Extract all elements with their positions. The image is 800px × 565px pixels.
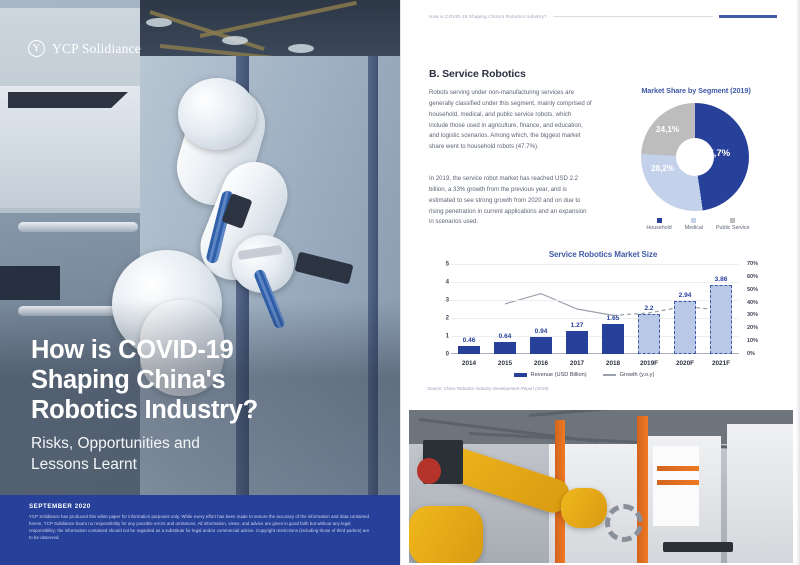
logo-mark-letter: Y <box>33 43 41 54</box>
cover-footer: SEPTEMBER 2020 YCP Solidiance has produc… <box>0 495 400 565</box>
donut-legend-label: Household <box>646 225 671 231</box>
donut-legend-item: Public Service <box>716 218 750 231</box>
photo-orange-bar-1 <box>657 466 699 471</box>
bar-2019F <box>638 314 660 354</box>
legend-line-icon <box>603 374 616 375</box>
bar-value-label: 0.46 <box>452 337 486 344</box>
y-axis-tick: 0 <box>437 351 449 358</box>
content-page: How is COVID-19 Shaping China's Robotics… <box>400 0 800 565</box>
robot-arm-shoulder <box>178 78 256 150</box>
page-edge <box>796 0 800 565</box>
cover-title-line-1: How is COVID-19 <box>31 336 233 364</box>
bar-value-label: 3.86 <box>704 276 738 283</box>
photo-dark-box <box>0 266 60 300</box>
header-rule <box>553 16 713 17</box>
x-axis-tick: 2015 <box>485 360 525 367</box>
x-axis-tick: 2021F <box>701 360 741 367</box>
bar-value-label: 2.94 <box>668 292 702 299</box>
cover-page: Y YCP Solidiance How is COVID-19 Shaping… <box>0 0 400 565</box>
photo-lamp-2 <box>222 36 248 45</box>
bar-2018 <box>602 324 624 354</box>
combo-plot-area: 0123450%10%20%30%40%50%60%70%0.4620140.6… <box>451 264 739 354</box>
y-axis-tick: 3 <box>437 297 449 304</box>
cover-subtitle-line-1: Risks, Opportunities and <box>31 435 200 452</box>
ycp-logo-icon: Y <box>28 40 45 57</box>
photo-red-cap <box>417 458 441 484</box>
donut-chart-title: Market Share by Segment (2019) <box>606 86 786 95</box>
page-header: How is COVID-19 Shaping China's Robotics… <box>429 14 777 19</box>
bar-value-label: 1.65 <box>596 315 630 322</box>
x-axis-tick: 2019F <box>629 360 669 367</box>
x-axis-tick: 2014 <box>449 360 489 367</box>
header-accent-bar <box>719 15 777 18</box>
bar-value-label: 0.94 <box>524 328 558 335</box>
donut-legend-label: Public Service <box>716 225 750 231</box>
combo-legend-item: Revenue (USD Billion) <box>514 372 587 378</box>
cover-title-line-2: Shaping China's <box>31 366 225 394</box>
x-axis-tick: 2020F <box>665 360 705 367</box>
publication-date: SEPTEMBER 2020 <box>29 503 91 510</box>
photo-robot-base-yellow <box>409 506 483 563</box>
combo-legend-label: Revenue (USD Billion) <box>531 372 587 378</box>
cover-logo: Y YCP Solidiance <box>28 40 141 57</box>
donut-label-public-service: 24,1% <box>656 125 679 134</box>
photo-orange-bar-2 <box>657 480 699 485</box>
donut-label-medical: 28,2% <box>651 164 674 173</box>
y-axis-tick: 5 <box>437 261 449 268</box>
combo-legend-item: Growth (y.o.y) <box>603 372 655 378</box>
photo-lamp-3 <box>288 44 314 53</box>
legend-swatch-icon <box>657 218 662 223</box>
combo-legend: Revenue (USD Billion)Growth (y.o.y) <box>419 372 749 378</box>
combo-chart-title: Service Robotics Market Size <box>419 250 787 259</box>
donut-legend: HouseholdMedicalPublic Service <box>610 218 786 231</box>
bar-2020F <box>674 301 696 354</box>
disclaimer-text: YCP Solidiance has produced this white p… <box>29 513 374 541</box>
x-axis-tick: 2017 <box>557 360 597 367</box>
donut-hole <box>641 103 749 211</box>
photo-robot-wrist-yellow <box>561 488 607 528</box>
section-paragraph-2: In 2019, the service robot market has re… <box>429 174 592 228</box>
chart-source-note: Source: China Robotics Industry Developm… <box>427 386 548 391</box>
growth-line-forecast <box>613 306 721 315</box>
section-title: B. Service Robotics <box>429 68 526 80</box>
photo-orange-column-2 <box>637 416 648 563</box>
market-share-chart: Market Share by Segment (2019) 47,7% 28,… <box>606 86 786 236</box>
y2-axis-tick: 50% <box>747 287 773 293</box>
bar-2015 <box>494 342 516 354</box>
legend-swatch-icon <box>691 218 696 223</box>
photo-rail-upper <box>18 222 138 232</box>
page-header-title: How is COVID-19 Shaping China's Robotics… <box>429 14 547 19</box>
market-size-chart: Service Robotics Market Size 0123450%10%… <box>419 250 787 398</box>
bar-2017 <box>566 331 588 354</box>
cover-subtitle: Risks, Opportunities and Lessons Learnt <box>31 434 258 475</box>
cover-title-block: How is COVID-19 Shaping China's Robotics… <box>31 336 258 476</box>
legend-bar-icon <box>514 373 527 378</box>
cover-title: How is COVID-19 Shaping China's Robotics… <box>31 336 258 425</box>
cover-subtitle-line-2: Lessons Learnt <box>31 456 137 473</box>
legend-swatch-icon <box>730 218 735 223</box>
y2-axis-tick: 10% <box>747 338 773 344</box>
donut-legend-item: Medical <box>685 218 703 231</box>
y2-axis-tick: 20% <box>747 325 773 331</box>
photo-panel-white <box>653 446 699 526</box>
factory-photo <box>409 410 793 563</box>
y2-axis-tick: 40% <box>747 300 773 306</box>
bar-value-label: 2.2 <box>632 305 666 312</box>
x-axis-tick: 2016 <box>521 360 561 367</box>
bar-2021F <box>710 285 732 354</box>
gridline <box>451 264 739 265</box>
bar-value-label: 0.64 <box>488 333 522 340</box>
gridline <box>451 282 739 283</box>
donut-legend-item: Household <box>646 218 671 231</box>
photo-gear <box>605 504 643 542</box>
growth-line-actual <box>505 294 613 316</box>
photo-ceiling <box>140 0 400 62</box>
photo-lamp-1 <box>146 18 172 27</box>
y2-axis-tick: 30% <box>747 312 773 318</box>
bar-2016 <box>530 337 552 354</box>
bar-2014 <box>458 346 480 354</box>
photo-dark-slot <box>8 92 128 108</box>
y2-axis-tick: 60% <box>747 274 773 280</box>
y-axis-tick: 1 <box>437 333 449 340</box>
cover-title-line-3: Robotics Industry? <box>31 396 258 424</box>
logo-text: YCP Solidiance <box>52 41 141 57</box>
photo-machine-wall-3 <box>727 424 793 563</box>
section-paragraph-1: Robots serving under non-manufacturing s… <box>429 88 592 153</box>
photo-dark-strip <box>663 542 733 552</box>
donut-label-household: 47,7% <box>703 148 730 159</box>
y-axis-tick: 4 <box>437 279 449 286</box>
document-spread: Y YCP Solidiance How is COVID-19 Shaping… <box>0 0 800 565</box>
bar-value-label: 1.27 <box>560 322 594 329</box>
y2-axis-tick: 0% <box>747 351 773 357</box>
donut-legend-label: Medical <box>685 225 703 231</box>
combo-legend-label: Growth (y.o.y) <box>620 372 655 378</box>
y2-axis-tick: 70% <box>747 261 773 267</box>
x-axis-tick: 2018 <box>593 360 633 367</box>
y-axis-tick: 2 <box>437 315 449 322</box>
